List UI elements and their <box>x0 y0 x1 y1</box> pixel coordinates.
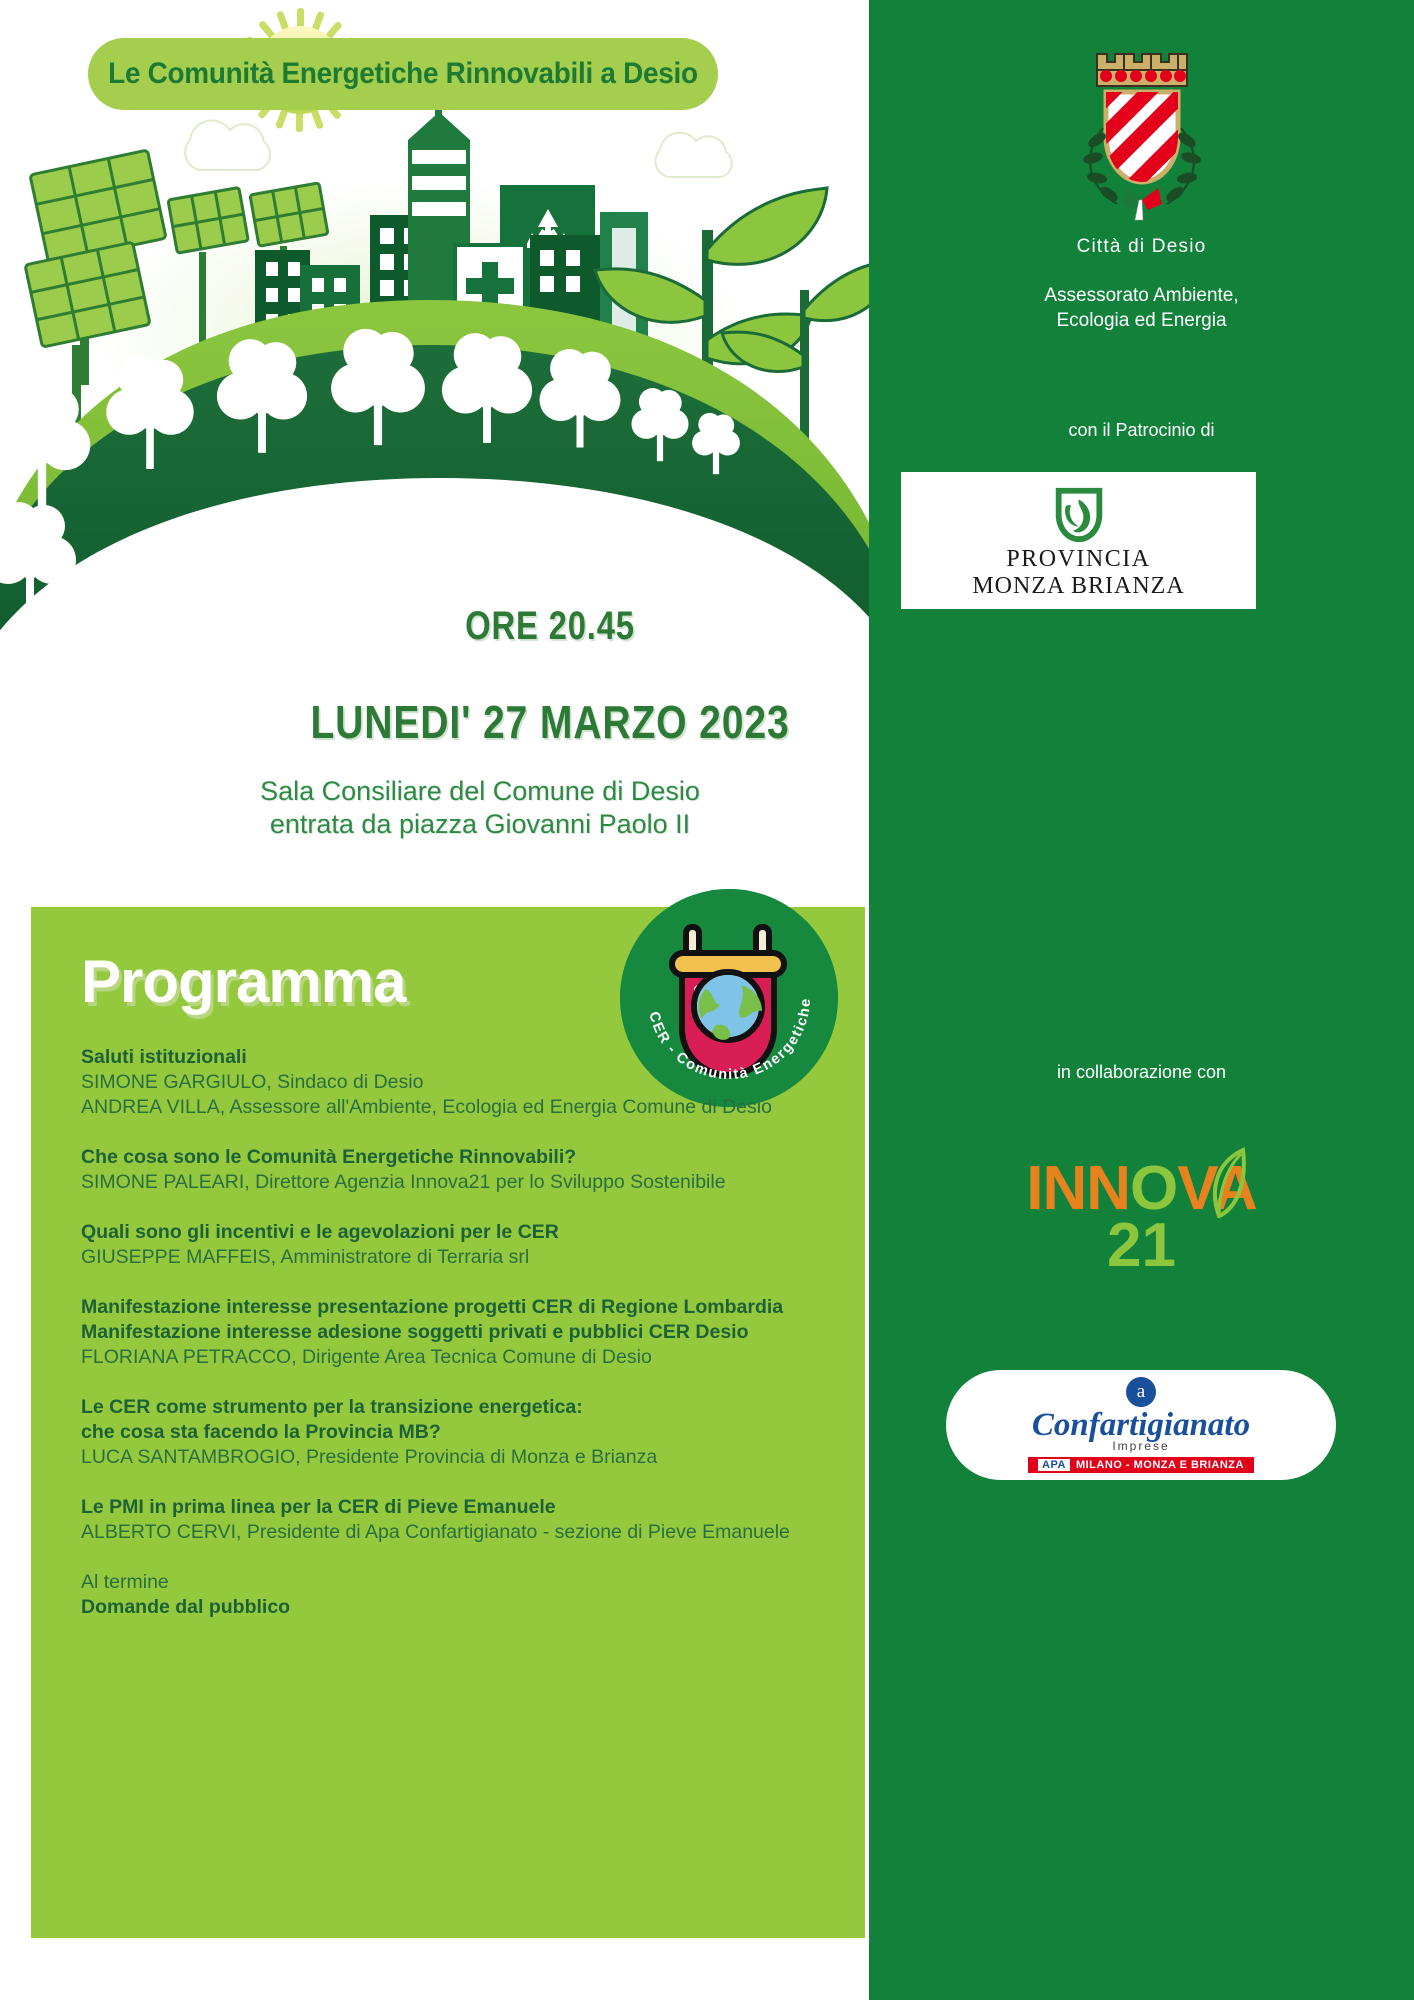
provincia-line-2: MONZA BRIANZA <box>972 573 1184 600</box>
hero-illustration: Le Comunità Energetiche Rinnovabili a De… <box>0 0 869 690</box>
program-item-title: che cosa sta facendo la Provincia MB? <box>81 1420 841 1445</box>
provincia-mark-icon <box>1048 482 1110 544</box>
program-item-title: Le CER come strumento per la transizione… <box>81 1395 841 1420</box>
program-item: Saluti istituzionali SIMONE GARGIULO, Si… <box>81 1045 841 1120</box>
department-line-2: Ecologia ed Energia <box>869 308 1414 333</box>
program-item-speaker: SIMONE PALEARI, Direttore Agenzia Innova… <box>81 1170 841 1195</box>
program-item-title: Saluti istituzionali <box>81 1045 841 1070</box>
provincia-logo: PROVINCIA MONZA BRIANZA <box>901 472 1256 609</box>
confartigianato-subtitle: Imprese <box>1112 1439 1169 1453</box>
program-item-speaker: SIMONE GARGIULO, Sindaco di Desio <box>81 1070 841 1095</box>
provincia-line-1: PROVINCIA <box>1006 546 1150 573</box>
main-column: Le Comunità Energetiche Rinnovabili a De… <box>0 0 869 2000</box>
innova21-logo: INNOVA 21 <box>869 1160 1414 1274</box>
program-item-speaker: GIUSEPPE MAFFEIS, Amministratore di Terr… <box>81 1245 841 1270</box>
program-item: Le CER come strumento per la transizione… <box>81 1395 841 1470</box>
program-item: Le PMI in prima linea per la CER di Piev… <box>81 1495 841 1545</box>
program-item-title: Che cosa sono le Comunità Energetiche Ri… <box>81 1145 841 1170</box>
program-item-title: Le PMI in prima linea per la CER di Piev… <box>81 1495 841 1520</box>
city-name: Città di Desio <box>869 236 1414 258</box>
venue-line-1: Sala Consiliare del Comune di Desio <box>170 775 790 808</box>
program-item: Quali sono gli incentivi e le agevolazio… <box>81 1220 841 1270</box>
program-items: Saluti istituzionali SIMONE GARGIULO, Si… <box>81 1045 841 1645</box>
sidebar: Città di Desio Assessorato Ambiente, Eco… <box>869 0 1414 2000</box>
innova-number: 21 <box>869 1218 1414 1274</box>
confartigianato-bar-text: MILANO - MONZA E BRIANZA <box>1076 1459 1244 1471</box>
program-item-title: Manifestazione interesse presentazione p… <box>81 1295 841 1320</box>
city-crest-wrap <box>869 28 1414 243</box>
program-closing: Al termine Domande dal pubblico <box>81 1570 841 1620</box>
program-item-title: Quali sono gli incentivi e le agevolazio… <box>81 1220 841 1245</box>
program-item: Che cosa sono le Comunità Energetiche Ri… <box>81 1145 841 1195</box>
program-item-speaker: ANDREA VILLA, Assessore all'Ambiente, Ec… <box>81 1095 841 1120</box>
confartigianato-bar: APA MILANO - MONZA E BRIANZA <box>1028 1457 1254 1473</box>
department-name: Assessorato Ambiente, Ecologia ed Energi… <box>869 283 1414 333</box>
program-item-speaker: FLORIANA PETRACCO, Dirigente Area Tecnic… <box>81 1345 841 1370</box>
patronage-label: con il Patrocinio di <box>869 420 1414 441</box>
program-panel: CER - Comunità Energetiche Rinnovabili P… <box>31 907 865 1938</box>
department-line-1: Assessorato Ambiente, <box>869 283 1414 308</box>
program-heading: Programma <box>81 947 405 1016</box>
event-date: LUNEDI' 27 MARZO 2023 <box>295 695 805 749</box>
event-venue: Sala Consiliare del Comune di Desio entr… <box>170 775 790 841</box>
city-crest-icon <box>1067 28 1217 238</box>
program-item-title: Manifestazione interesse adesione sogget… <box>81 1320 841 1345</box>
poster-title: Le Comunità Energetiche Rinnovabili a De… <box>108 57 698 91</box>
program-closing-text: Domande dal pubblico <box>81 1595 841 1620</box>
poster-root: Le Comunità Energetiche Rinnovabili a De… <box>0 0 1414 2000</box>
collaboration-label: in collaborazione con <box>869 1062 1414 1083</box>
poster-title-banner: Le Comunità Energetiche Rinnovabili a De… <box>88 38 718 110</box>
program-item-speaker: LUCA SANTAMBROGIO, Presidente Provincia … <box>81 1445 841 1470</box>
innova-wordmark: INNOVA <box>869 1160 1414 1218</box>
venue-line-2: entrata da piazza Giovanni Paolo II <box>170 808 790 841</box>
program-item-speaker: ALBERTO CERVI, Presidente di Apa Confart… <box>81 1520 841 1545</box>
event-time: ORE 20.45 <box>304 604 796 649</box>
ribbon-icon <box>1122 188 1162 220</box>
confartigianato-bar-prefix: APA <box>1038 1459 1070 1471</box>
program-closing-intro: Al termine <box>81 1570 841 1595</box>
confartigianato-name: Confartigianato <box>1032 1408 1250 1442</box>
innova-leaf-icon <box>1189 1146 1249 1218</box>
confartigianato-monogram: a <box>1126 1377 1156 1407</box>
program-item: Manifestazione interesse presentazione p… <box>81 1295 841 1370</box>
confartigianato-logo: a Confartigianato Imprese APA MILANO - M… <box>946 1370 1336 1480</box>
